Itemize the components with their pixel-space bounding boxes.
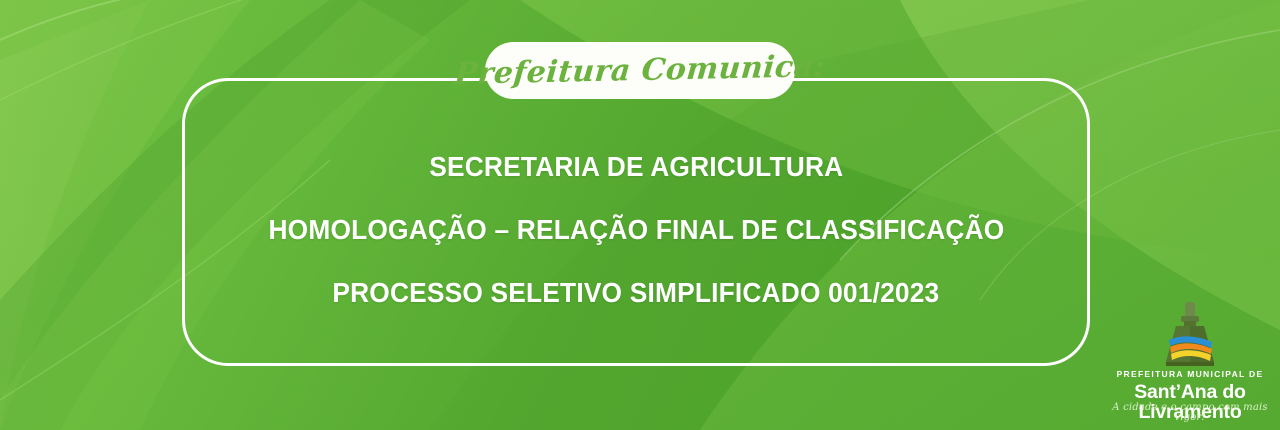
- announcement-banner: Prefeitura Comunica: SECRETARIA DE AGRIC…: [0, 0, 1280, 430]
- headline-line-2: HOMOLOGAÇÃO – RELAÇÃO FINAL DE CLASSIFIC…: [268, 214, 1004, 246]
- badge-label: Prefeitura Comunica:: [454, 52, 827, 90]
- headline-line-1: SECRETARIA DE AGRICULTURA: [429, 151, 843, 183]
- bell-icon: [1154, 300, 1226, 370]
- headline-block: SECRETARIA DE AGRICULTURA HOMOLOGAÇÃO – …: [182, 120, 1090, 340]
- prefeitura-comunica-badge: Prefeitura Comunica:: [485, 42, 795, 99]
- logo-tagline: A cidade e o campo com mais vigor!: [1108, 403, 1272, 423]
- logo-kicker: PREFEITURA MUNICIPAL DE: [1108, 370, 1272, 379]
- headline-line-3: PROCESSO SELETIVO SIMPLIFICADO 001/2023: [332, 277, 939, 309]
- city-hall-logo: PREFEITURA MUNICIPAL DE Sant’Ana do Livr…: [1108, 300, 1272, 420]
